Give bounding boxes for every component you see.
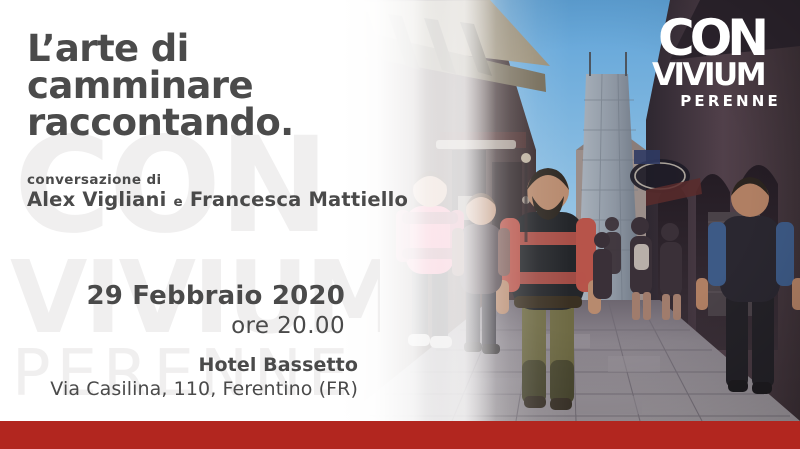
byline: conversazione di Alex Vigliani e Frances… [27, 172, 408, 214]
byline-speakers: Alex Vigliani e Francesca Mattiello [27, 188, 408, 214]
event-time: ore 20.00 [86, 311, 345, 341]
byline-conjunction: e [173, 194, 182, 210]
bottom-accent-bar [0, 421, 800, 449]
headline-line-2: camminare [27, 67, 387, 104]
event-poster: CON VIVIUM PERENNE L’arte di camminare r… [0, 0, 800, 449]
page-title: L’arte di camminare raccontando. [27, 30, 387, 141]
event-location: Hotel Bassetto Via Casilina, 110, Ferent… [50, 353, 358, 401]
headline-line-3: raccontando. [27, 104, 387, 141]
poster-content: L’arte di camminare raccontando. convers… [0, 0, 420, 421]
speaker-two: Francesca Mattiello [190, 188, 408, 211]
event-datetime: 29 Febbraio 2020 ore 20.00 [86, 281, 345, 341]
venue-name: Hotel Bassetto [50, 353, 358, 377]
speaker-one: Alex Vigliani [27, 188, 166, 211]
event-date: 29 Febbraio 2020 [86, 281, 345, 311]
venue-address: Via Casilina, 110, Ferentino (FR) [50, 377, 358, 401]
headline-line-1: L’arte di [27, 30, 387, 67]
byline-intro: conversazione di [27, 172, 408, 188]
